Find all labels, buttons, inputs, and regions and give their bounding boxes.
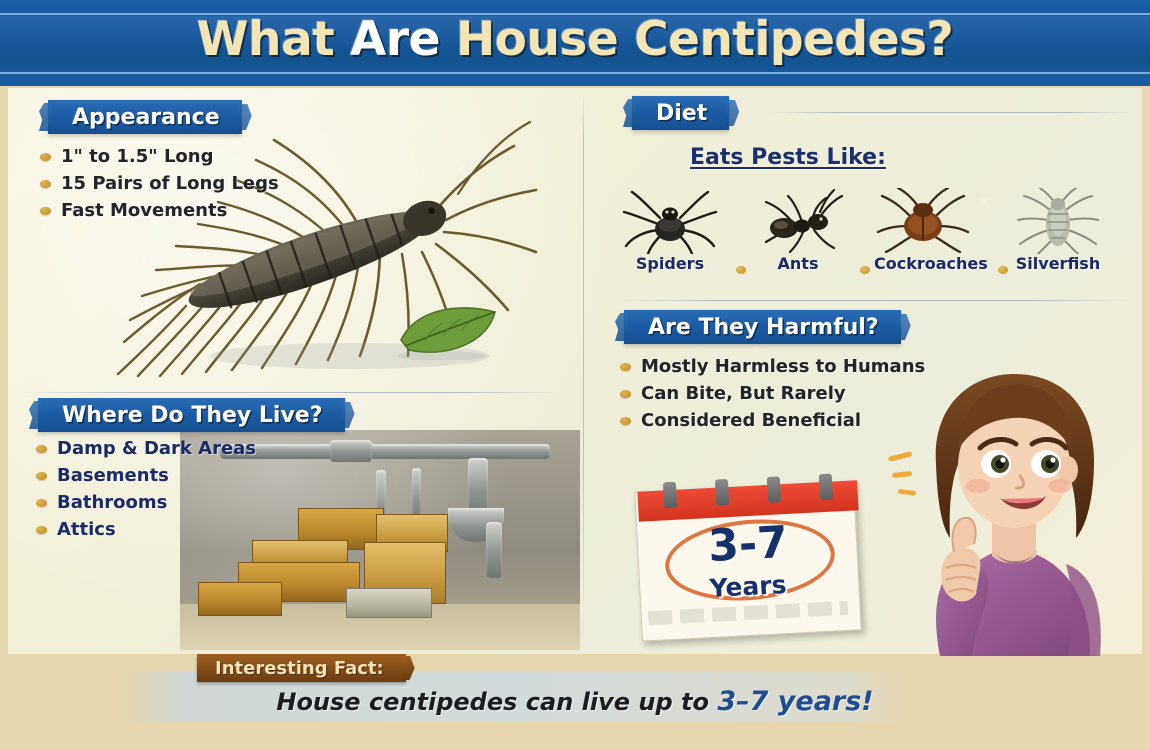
spider-icon [622, 188, 718, 254]
bullet-dot-icon [36, 526, 47, 534]
bullet-dot-icon [620, 390, 631, 398]
section-header-harmful-label: Are They Harmful? [648, 315, 879, 340]
bullet-dot-icon [36, 445, 47, 453]
page-title-highlight: Are [350, 12, 440, 67]
appearance-bullet-2: Fast Movements [61, 200, 227, 221]
section-header-appearance: Appearance [48, 100, 242, 134]
calendar-illustration: 3-7 Years [630, 478, 865, 643]
list-item: Fast Movements [40, 200, 279, 221]
section-header-where-live-label: Where Do They Live? [62, 403, 323, 428]
pest-label-ants: Ants [750, 254, 846, 273]
pipe-tail [486, 522, 502, 578]
appearance-bullet-0: 1" to 1.5" Long [61, 146, 213, 167]
list-item: 15 Pairs of Long Legs [40, 173, 279, 194]
list-item: Attics [36, 519, 256, 540]
pest-separator-dot-icon [736, 266, 746, 274]
list-item: Damp & Dark Areas [36, 438, 256, 459]
pest-separator-dot-icon [998, 266, 1008, 274]
cockroach-icon [874, 188, 970, 254]
bullet-dot-icon [36, 472, 47, 480]
cartoon-woman-illustration [880, 368, 1142, 656]
pest-item-silverfish: Silverfish [1010, 188, 1106, 273]
harmful-bullet-1: Can Bite, But Rarely [641, 383, 846, 404]
section-header-appearance-label: Appearance [72, 105, 220, 130]
section-header-where-live: Where Do They Live? [38, 398, 345, 432]
calendar-ring-icon [819, 474, 833, 501]
diet-pest-row: Spiders Ants [610, 188, 1140, 288]
fact-badge-label: Interesting Fact: [215, 658, 384, 679]
pest-label-spiders: Spiders [622, 254, 718, 273]
diet-subtitle: Eats Pests Like: [690, 145, 886, 170]
infographic-poster: What Are House Centipedes? [0, 0, 1150, 750]
list-item: 1" to 1.5" Long [40, 146, 279, 167]
poster-header-band: What Are House Centipedes? [0, 0, 1150, 86]
bullet-dot-icon [40, 180, 51, 188]
pest-item-ants: Ants [750, 188, 846, 273]
appearance-bullet-list: 1" to 1.5" Long 15 Pairs of Long Legs Fa… [40, 146, 279, 227]
left-column-rule [20, 392, 560, 393]
fact-text-highlight: 3–7 years! [717, 686, 873, 717]
ant-icon [750, 188, 846, 254]
bullet-dot-icon [40, 153, 51, 161]
bullet-dot-icon [40, 207, 51, 215]
fact-badge: Interesting Fact: [197, 654, 406, 682]
calendar-ring-icon [663, 482, 677, 509]
pest-item-spiders: Spiders [622, 188, 718, 273]
pipe-joint [330, 440, 372, 462]
bullet-dot-icon [36, 499, 47, 507]
where-live-bullet-0: Damp & Dark Areas [57, 438, 256, 459]
bullet-dot-icon [620, 363, 631, 371]
harmful-bullet-2: Considered Beneficial [641, 410, 861, 431]
where-live-bullet-2: Bathrooms [57, 492, 167, 513]
cardboard-box [346, 588, 432, 618]
list-item: Bathrooms [36, 492, 256, 513]
fact-text-before: House centipedes can live up to [276, 688, 717, 716]
list-item: Basements [36, 465, 256, 486]
calendar-ring-icon [715, 479, 729, 506]
silverfish-icon [1010, 188, 1106, 254]
green-leaf-icon [395, 300, 503, 360]
bullet-dot-icon [620, 417, 631, 425]
where-live-bullet-3: Attics [57, 519, 116, 540]
section-header-diet: Diet [632, 96, 729, 130]
pest-label-cockroaches: Cockroaches [874, 254, 970, 273]
appearance-bullet-1: 15 Pairs of Long Legs [61, 173, 279, 194]
pipe-horizontal [220, 444, 550, 459]
diet-bottom-rule [614, 300, 1134, 301]
pest-item-cockroaches: Cockroaches [874, 188, 970, 273]
section-header-harmful: Are They Harmful? [624, 310, 901, 344]
wooden-crate [198, 582, 282, 616]
page-title-part1: What [197, 12, 350, 67]
section-header-diet-label: Diet [656, 101, 707, 126]
fact-text: House centipedes can live up to 3–7 year… [0, 686, 1150, 717]
page-title: What Are House Centipedes? [0, 12, 1150, 67]
pest-label-silverfish: Silverfish [1010, 254, 1106, 273]
pest-separator-dot-icon [860, 266, 870, 274]
calendar-ring-icon [767, 476, 781, 503]
where-live-bullet-list: Damp & Dark Areas Basements Bathrooms At… [36, 438, 256, 546]
column-divider [583, 96, 584, 636]
diet-header-rule [770, 112, 1132, 113]
page-title-part2: House Centipedes? [440, 12, 953, 67]
where-live-bullet-1: Basements [57, 465, 169, 486]
